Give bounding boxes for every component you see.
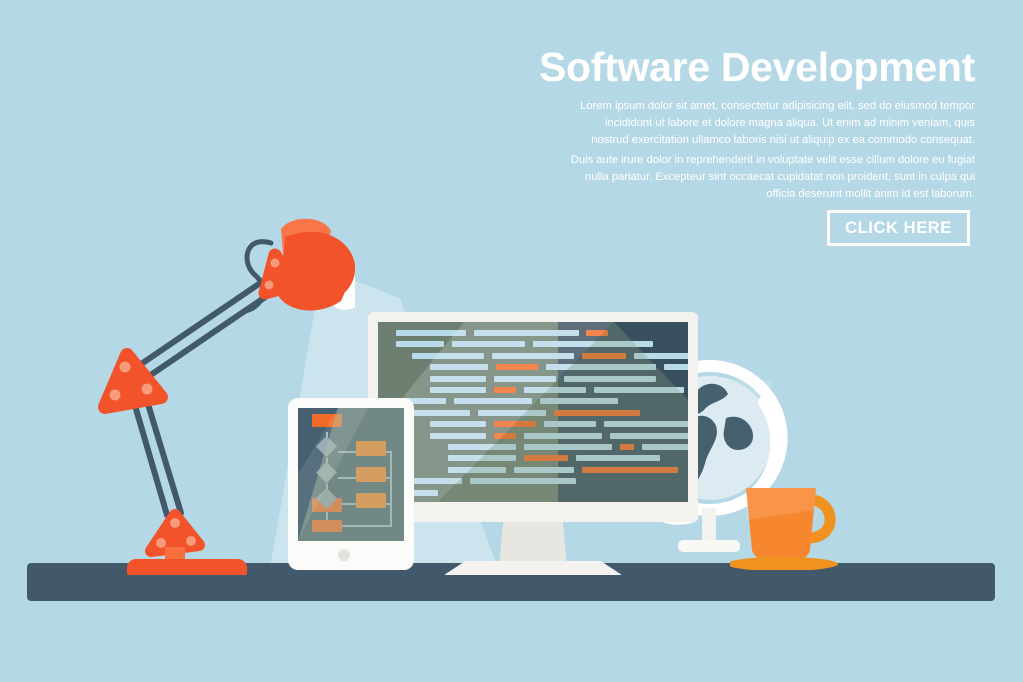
coffee-cup — [730, 478, 850, 570]
tablet-screen — [298, 408, 404, 541]
monitor-neck — [499, 522, 567, 567]
tablet-body — [288, 398, 414, 570]
lamp-elbow-joint — [105, 355, 161, 407]
tablet-light-overlay — [298, 408, 404, 541]
tablet-device — [288, 398, 414, 570]
lamp-base — [127, 515, 247, 575]
hero-paragraph-1: Lorem ipsum dolor sit amet, consectetur … — [570, 98, 975, 149]
hero-paragraph-2: Duis aute irure dolor in reprehenderit i… — [570, 152, 975, 203]
monitor-screen — [378, 322, 688, 502]
cup-saucer — [730, 557, 838, 570]
desktop-monitor — [368, 312, 698, 562]
globe-stem — [702, 508, 716, 544]
illustration-stage: Software Development Lorem ipsum dolor s… — [0, 0, 1023, 682]
monitor-base — [444, 561, 622, 575]
screen-light-overlay — [378, 322, 688, 502]
tablet-home-button[interactable] — [338, 549, 350, 561]
page-title: Software Development — [430, 46, 975, 89]
monitor-bezel — [368, 312, 698, 522]
click-here-button[interactable]: CLICK HERE — [827, 210, 970, 246]
